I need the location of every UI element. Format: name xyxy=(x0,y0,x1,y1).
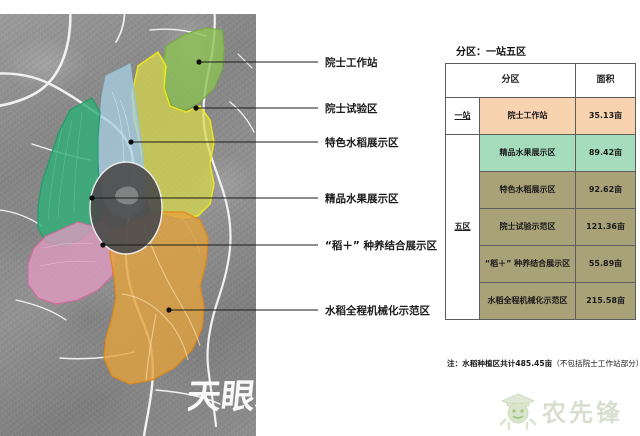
table-cell-group: 一站 xyxy=(446,98,480,135)
table-cell-area: 92.62亩 xyxy=(576,172,636,209)
table-cell-area: 215.58亩 xyxy=(576,283,636,320)
table-body: 一站院士工作站35.13亩五区精品水果展示区89.42亩特色水稻展示区92.62… xyxy=(446,98,636,320)
table-note-main: 注：水稻种植区共计485.45亩 xyxy=(447,359,552,368)
table-row: 一站院士工作站35.13亩 xyxy=(446,98,636,135)
table-cell-area: 121.36亩 xyxy=(576,209,636,246)
callout-labels-group: 院士工作站院士试验区特色水稻展示区精品水果展示区“稻＋” 种养结合展示区水稻全程… xyxy=(0,0,440,436)
callout-label-4: “稻＋” 种养结合展示区 xyxy=(325,241,437,252)
table-row: 五区精品水果展示区89.42亩 xyxy=(446,135,636,172)
table-cell-zone-name: 特色水稻展示区 xyxy=(480,172,576,209)
table-header-name: 分区 xyxy=(446,64,576,98)
table-cell-zone-name: 院士试验示范区 xyxy=(480,209,576,246)
callout-label-3: 精品水果展示区 xyxy=(325,194,399,205)
zone-table-panel: 分区：一站五区 分区 面积 一站院士工作站35.13亩五区精品水果展示区89.4… xyxy=(440,0,640,436)
table-header: 分区 面积 xyxy=(446,64,636,98)
callout-label-1: 院士试验区 xyxy=(325,104,378,115)
table-caption: 分区：一站五区 xyxy=(456,43,526,58)
callout-label-2: 特色水稻展示区 xyxy=(325,138,399,149)
zone-area-table: 分区 面积 一站院士工作站35.13亩五区精品水果展示区89.42亩特色水稻展示… xyxy=(445,63,636,320)
table-cell-zone-name: “稻＋” 种养结合展示区 xyxy=(480,246,576,283)
table-cell-group: 五区 xyxy=(446,135,480,320)
table-cell-zone-name: 水稻全程机械化示范区 xyxy=(480,283,576,320)
zoning-map-page: 功能分区 xyxy=(0,0,640,436)
callout-label-5: 水稻全程机械化示范区 xyxy=(325,306,430,317)
table-cell-zone-name: 院士工作站 xyxy=(480,98,576,135)
table-note-paren: （不包括院士工作站部分） xyxy=(552,359,640,368)
table-cell-area: 35.13亩 xyxy=(576,98,636,135)
table-cell-zone-name: 精品水果展示区 xyxy=(480,135,576,172)
table-note: 注：水稻种植区共计485.45亩（不包括院士工作站部分） xyxy=(447,358,640,369)
table-header-row: 分区 面积 xyxy=(446,64,636,98)
table-cell-area: 55.89亩 xyxy=(576,246,636,283)
table-header-area: 面积 xyxy=(576,64,636,98)
callout-label-0: 院士工作站 xyxy=(325,58,378,69)
table-cell-area: 89.42亩 xyxy=(576,135,636,172)
